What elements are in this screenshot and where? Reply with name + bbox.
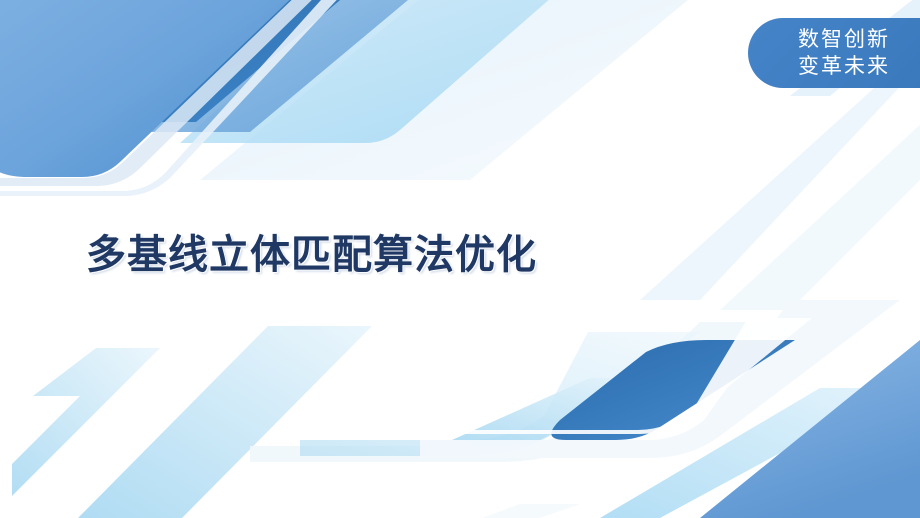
deco-shape-topleft-main [0,0,300,177]
deco-swoosh-dark [551,340,795,440]
deco-band-bottomleft-sweep [176,330,352,518]
deco-triangle-right-light [600,388,900,518]
slogan-line-2: 变革未来 [798,53,890,80]
deco-band-bottomleft-slab-white [22,326,268,518]
deco-band-bottomleft-outer-2 [12,396,80,464]
deco-swoosh-back-pale [420,300,900,458]
deco-band-topleft-dark [96,0,352,122]
deco-swoosh-light [452,378,660,440]
page-title: 多基线立体匹配算法优化 [86,228,537,282]
cover-slide: 数智创新 变革未来 多基线立体匹配算法优化 [0,0,920,518]
title-container: 多基线立体匹配算法优化 [86,228,537,282]
slogan-badge: 数智创新 变革未来 [748,18,920,88]
deco-band-topleft-light [180,0,560,143]
deco-band-bottomleft-outer [12,348,160,496]
deco-line-topleft-sweep [0,0,346,196]
deco-band-topleft-separator [80,0,258,124]
deco-band-topright-faint-2 [720,120,920,310]
deco-sweep-center-light [300,332,700,456]
deco-band-topleft-pale [200,0,700,180]
deco-sweep-center-pale [250,322,800,462]
slogan-line-1: 数智创新 [798,26,890,53]
deco-band-topleft-mid [140,0,420,132]
deco-band-bottomleft-slab [66,326,372,518]
deco-band-bottomleft-main [236,338,330,430]
deco-sliver-bottom-center [482,504,580,518]
deco-wedge-center-pale [252,330,690,400]
deco-triangle-right-main [700,340,920,518]
deco-band-topright-faint-1 [640,60,920,300]
deco-band-bottomleft-tail [224,330,370,448]
deco-shape-topleft-shadow [0,0,322,186]
deco-swoosh-highlight [430,318,812,434]
